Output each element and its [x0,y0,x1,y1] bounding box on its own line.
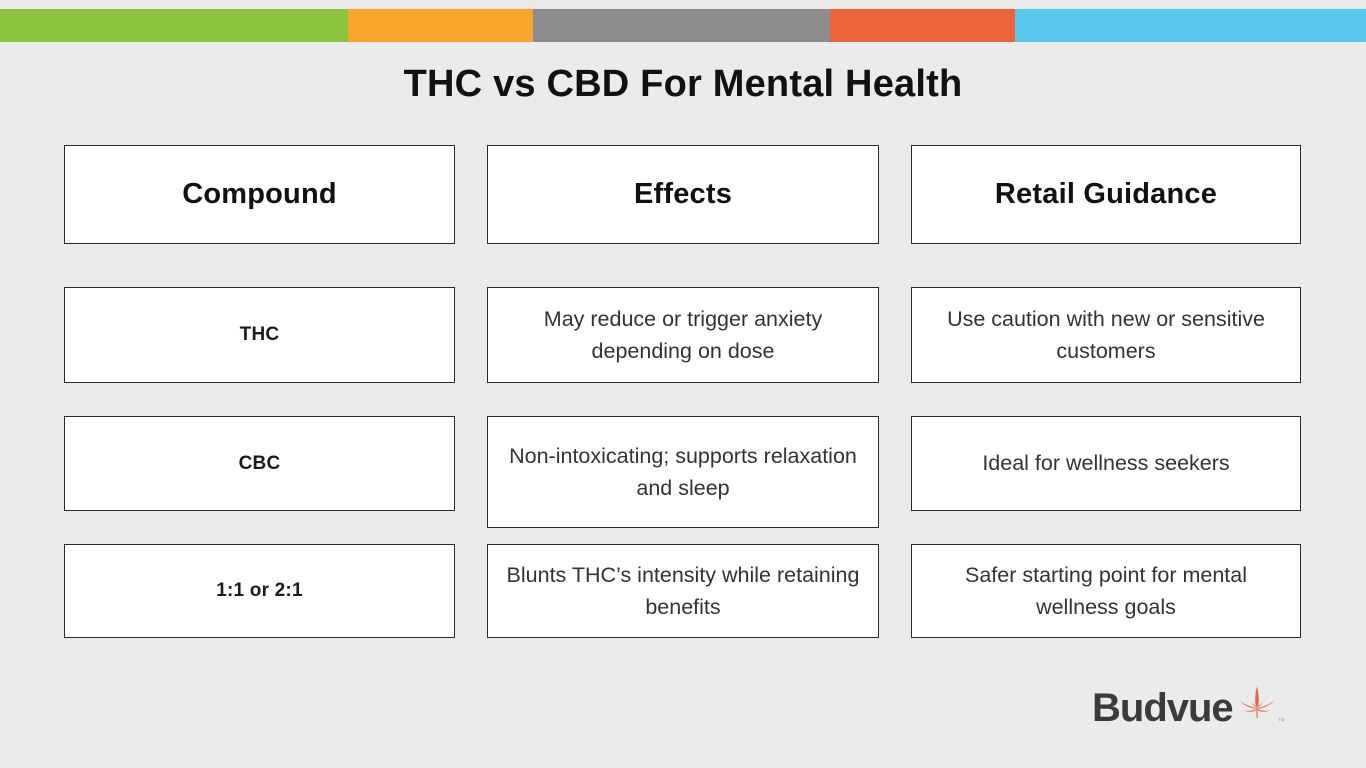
table-header-effects: Effects [487,145,879,244]
cell-retail-guidance-1: Use caution with new or sensitive custom… [912,303,1300,368]
table-header-compound: Compound [64,145,455,244]
table-row: CBC [64,416,455,511]
table-row: 1:1 or 2:1 [64,544,455,638]
cannabis-leaf-icon [1237,683,1277,728]
cell-compound-1: THC [65,324,454,346]
cell-compound-2: CBC [65,453,454,475]
table-row: Use caution with new or sensitive custom… [911,287,1301,383]
table-row: Ideal for wellness seekers [911,416,1301,511]
table-row: Safer starting point for mental wellness… [911,544,1301,638]
table-header-retail-guidance-label: Retail Guidance [912,178,1300,211]
table-row: Blunts THC’s intensity while retaining b… [487,544,879,638]
table-header-compound-label: Compound [65,178,454,211]
cell-effects-2: Non-intoxicating; supports relaxation an… [488,440,878,505]
cell-retail-guidance-3: Safer starting point for mental wellness… [912,559,1300,624]
table-row: THC [64,287,455,383]
table-row: Non-intoxicating; supports relaxation an… [487,416,879,528]
table-row: May reduce or trigger anxiety depending … [487,287,879,383]
budvue-logo: Budvue ™ [1092,687,1285,728]
comparison-table: Compound Effects Retail Guidance THC May… [0,0,1366,768]
budvue-wordmark: Budvue [1092,688,1233,728]
cell-compound-3: 1:1 or 2:1 [65,580,454,602]
cell-effects-3: Blunts THC’s intensity while retaining b… [488,559,878,624]
cell-effects-1: May reduce or trigger anxiety depending … [488,303,878,368]
table-header-retail-guidance: Retail Guidance [911,145,1301,244]
table-header-effects-label: Effects [488,178,878,211]
trademark-symbol: ™ [1278,718,1285,725]
cell-retail-guidance-2: Ideal for wellness seekers [912,447,1300,479]
